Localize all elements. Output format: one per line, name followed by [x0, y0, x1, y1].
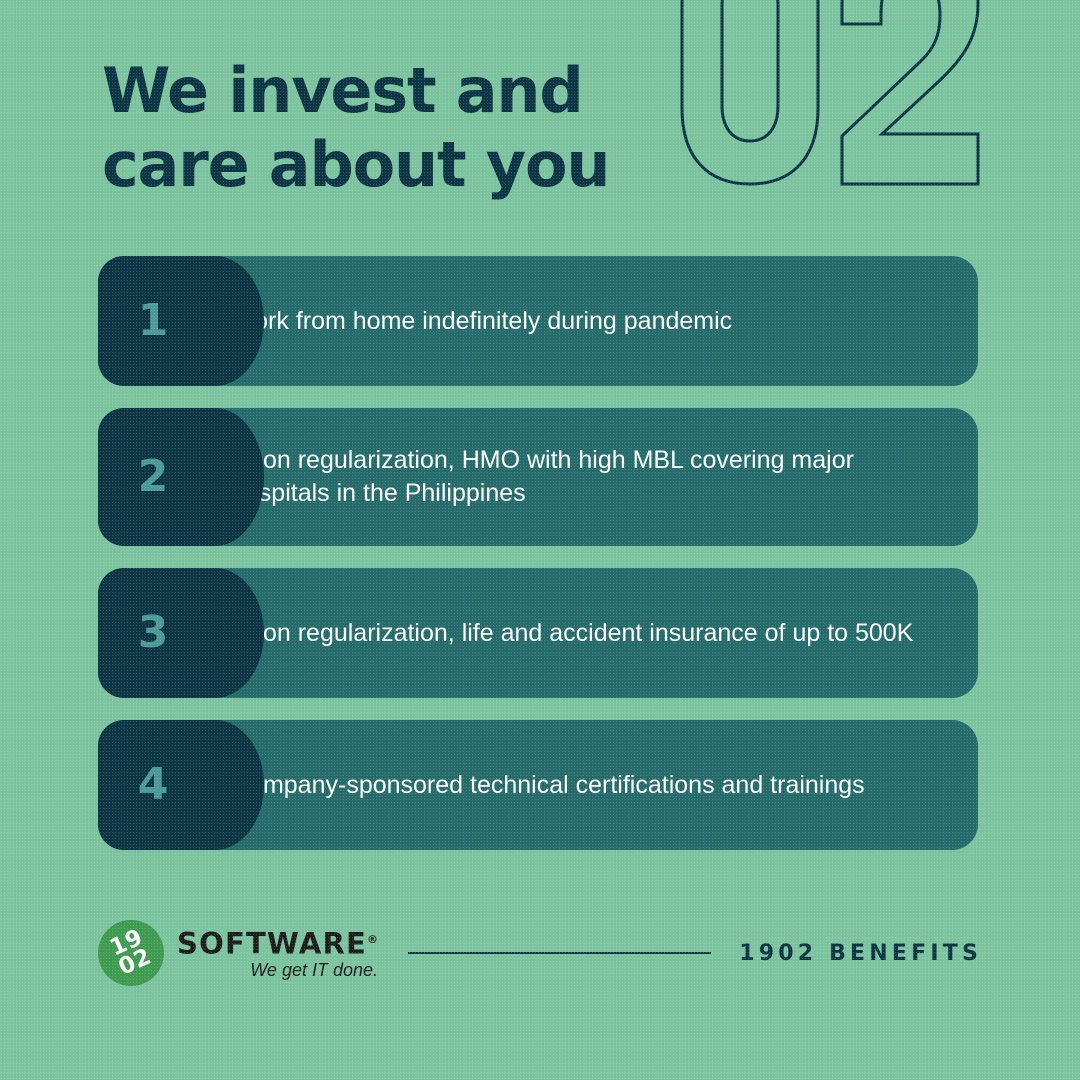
- benefit-number-3: 3: [138, 611, 168, 655]
- logo-name: SOFTWARE®: [177, 925, 378, 959]
- benefit-number-1: 1: [138, 299, 168, 343]
- benefit-card-4[interactable]: 4 Company-sponsored technical certificat…: [98, 720, 978, 850]
- logo-wordmark: SOFTWARE® We get IT done.: [177, 925, 378, 982]
- benefits-list: 1 Work from home indefinitely during pan…: [98, 256, 978, 850]
- benefit-badge-3: 3: [98, 568, 215, 698]
- footer-label: 1902 BENEFITS: [739, 941, 982, 966]
- company-logo[interactable]: 19 02 SOFTWARE® We get IT done.: [98, 920, 378, 986]
- headline-line-2: care about you: [102, 128, 609, 202]
- logo-tagline: We get IT done.: [177, 959, 378, 981]
- badge-bulge-shape: [166, 568, 264, 698]
- logo-circle-icon: 19 02: [98, 920, 164, 986]
- section-number-02-outline: [676, 0, 984, 190]
- page-title: We invest and care about you: [102, 54, 609, 202]
- benefit-text-1: Work from home indefinitely during pande…: [215, 256, 978, 386]
- benefit-badge-4: 4: [98, 720, 215, 850]
- benefit-number-2: 2: [138, 455, 168, 499]
- footer: 19 02 SOFTWARE® We get IT done. 1902 BEN…: [98, 914, 982, 992]
- badge-bulge-shape: [166, 408, 264, 546]
- logo-name-text: SOFTWARE: [177, 926, 367, 960]
- benefit-text-2: Upon regularization, HMO with high MBL c…: [215, 408, 978, 546]
- badge-bulge-shape: [166, 256, 264, 386]
- badge-bulge-shape: [166, 720, 264, 850]
- registered-trademark-icon: ®: [367, 933, 378, 946]
- footer-divider: [408, 952, 711, 954]
- benefit-text-4: Company-sponsored technical certificatio…: [215, 720, 978, 850]
- benefit-card-2[interactable]: 2 Upon regularization, HMO with high MBL…: [98, 408, 978, 546]
- benefit-number-4: 4: [138, 763, 168, 807]
- headline-line-1: We invest and: [102, 54, 609, 128]
- poster-canvas: We invest and care about you 1 Work from…: [0, 0, 1080, 1080]
- benefit-badge-1: 1: [98, 256, 215, 386]
- logo-year-stack: 19 02: [107, 927, 154, 979]
- benefit-text-3: Upon regularization, life and accident i…: [215, 568, 978, 698]
- benefit-card-1[interactable]: 1 Work from home indefinitely during pan…: [98, 256, 978, 386]
- benefit-badge-2: 2: [98, 408, 215, 546]
- benefit-card-3[interactable]: 3 Upon regularization, life and accident…: [98, 568, 978, 698]
